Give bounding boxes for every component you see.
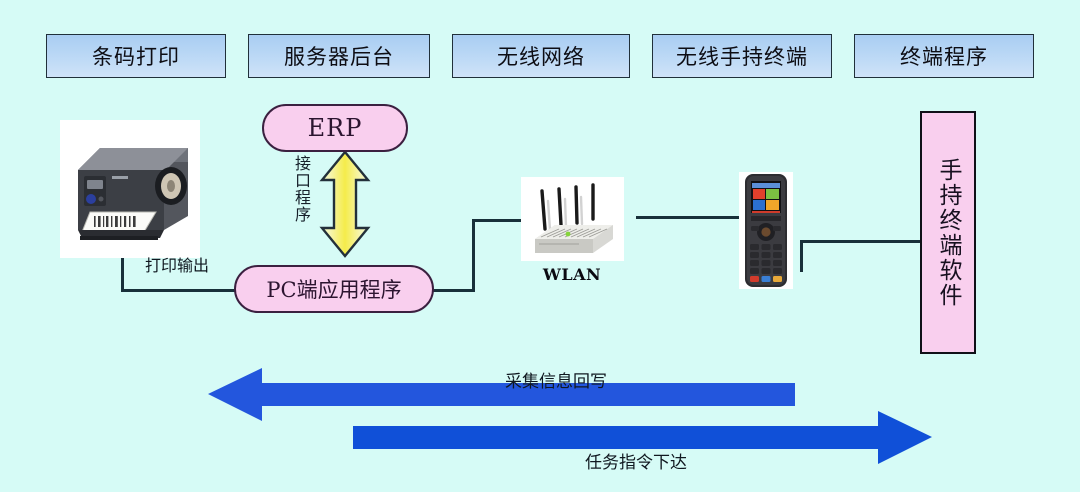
barcode-printer-illustration — [60, 120, 200, 258]
header-box-terminal-program[interactable]: 终端程序 — [854, 34, 1034, 78]
connector-handheld-to-terminal-software — [800, 240, 922, 243]
handheld-terminal-illustration — [739, 172, 793, 289]
header-box-server-backend[interactable]: 服务器后台 — [248, 34, 430, 78]
label-task-dispatch: 任务指令下达 — [585, 448, 687, 473]
connector-printer-to-pc — [121, 289, 246, 292]
header-box-barcode-print[interactable]: 条码打印 — [46, 34, 226, 78]
flow-arrow-upstream — [208, 368, 795, 421]
label-print-output: 打印输出 — [145, 252, 209, 276]
header-box-row: 条码打印 服务器后台 无线网络 无线手持终端 终端程序 — [0, 33, 1080, 79]
label-data-writeback: 采集信息回写 — [505, 367, 607, 392]
wireless-router-illustration — [521, 177, 624, 261]
header-box-wireless-handheld-terminal[interactable]: 无线手持终端 — [652, 34, 832, 78]
handheld-terminal-icon — [739, 172, 793, 289]
diagram-canvas: 条码打印 服务器后台 无线网络 无线手持终端 终端程序 — [0, 0, 1080, 492]
node-handheld-terminal-software-label: 手持终端软件 — [934, 158, 962, 308]
connector-pc-right-stub — [432, 289, 474, 292]
label-wlan: WLAN — [522, 265, 622, 284]
connector-handheld-riser — [800, 240, 803, 272]
node-handheld-terminal-software[interactable]: 手持终端软件 — [920, 111, 976, 354]
header-box-wireless-network[interactable]: 无线网络 — [452, 34, 630, 78]
barcode-printer-icon — [60, 120, 200, 258]
node-pc-application[interactable]: PC端应用程序 — [234, 265, 434, 313]
label-interface-program: 接口程序 — [288, 155, 310, 223]
connector-printer-vertical — [121, 253, 124, 292]
connector-pc-riser — [472, 219, 475, 292]
node-erp[interactable]: ERP — [262, 104, 408, 152]
wireless-router-icon — [521, 177, 624, 261]
connector-wlan-to-handheld — [636, 216, 744, 219]
